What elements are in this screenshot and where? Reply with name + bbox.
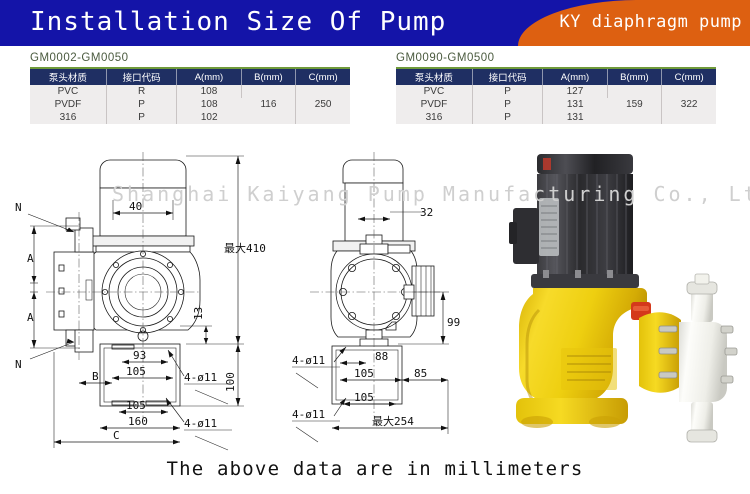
dim-100: 100 (224, 372, 237, 392)
dim-b: B (92, 370, 99, 383)
dim-88: 88 (375, 350, 388, 363)
cell-code: P (106, 111, 177, 124)
th-a: A(mm) (177, 68, 241, 85)
cell-a: 102 (177, 111, 241, 124)
cell-code: P (472, 98, 543, 111)
dim-max-410: 最大410 (224, 241, 266, 255)
label-hole-lower: 4-ø11 (184, 417, 217, 430)
cell-a: 108 (177, 98, 241, 111)
table-left-caption: GM0002-GM0050 (30, 52, 350, 64)
spec-table-left: GM0002-GM0050 泵头材质 接口代码 A(mm) B(mm) C(mm… (30, 52, 350, 124)
cell-material: PVDF (30, 98, 106, 111)
cell-material: 316 (396, 111, 472, 124)
table-header-row: 泵头材质 接口代码 A(mm) B(mm) C(mm) (30, 68, 350, 85)
dim-105-upper: 105 (126, 365, 146, 378)
cell-b: 116 (241, 85, 296, 124)
drawing-front-view: 40 N N A A 最大410 13 (15, 152, 266, 450)
cell-code: P (472, 85, 543, 98)
cell-material: PVC (30, 85, 106, 98)
diaphragm-head (679, 322, 727, 402)
label-hole-upper: 4-ø11 (184, 371, 217, 384)
dim-32: 32 (420, 206, 433, 219)
dim-13: 13 (192, 307, 205, 320)
dim-40: 40 (129, 200, 142, 213)
label-n-bottom: N (15, 358, 22, 371)
dim-c: C (113, 429, 120, 442)
th-a: A(mm) (543, 68, 607, 85)
cell-code: P (106, 98, 177, 111)
cell-a: 131 (543, 111, 607, 124)
cell-code: R (106, 85, 177, 98)
table-left: 泵头材质 接口代码 A(mm) B(mm) C(mm) PVC R 108 11… (30, 67, 350, 124)
footer-note: The above data are in millimeters (0, 458, 750, 480)
cell-c: 322 (662, 85, 716, 124)
cell-a: 108 (177, 85, 241, 98)
table-row: PVC R 108 116 250 (30, 85, 350, 98)
label-n-top: N (15, 201, 22, 214)
discharge-port (691, 290, 713, 322)
th-material: 泵头材质 (30, 68, 106, 85)
th-b: B(mm) (241, 68, 296, 85)
dim-160: 160 (128, 415, 148, 428)
dim-a-lower: A (27, 311, 34, 324)
dim-105-lower-side: 105 (354, 391, 374, 404)
product-photo (495, 150, 745, 450)
dim-85: 85 (414, 367, 427, 380)
dim-105-upper-side: 105 (354, 367, 374, 380)
label-hole-upper-side: 4-ø11 (292, 354, 325, 367)
th-code: 接口代码 (106, 68, 177, 85)
label-hole-lower-side: 4-ø11 (292, 408, 325, 421)
dim-a-upper: A (27, 252, 34, 265)
table-right-caption: GM0090-GM0500 (396, 52, 716, 64)
drawing-side-view: 32 99 88 105 85 105 最大254 (292, 152, 460, 442)
page-header: Installation Size Of Pump KY diaphragm p… (0, 0, 750, 46)
th-c: C(mm) (296, 68, 350, 85)
body-label (561, 348, 617, 390)
th-material: 泵头材质 (396, 68, 472, 85)
dim-93: 93 (133, 349, 146, 362)
suction-nut (687, 430, 717, 442)
dim-105-lower: 105 (126, 399, 146, 412)
table-right: 泵头材质 接口代码 A(mm) B(mm) C(mm) PVC P 127 15… (396, 67, 716, 124)
motor-cowl (537, 154, 633, 174)
suction-port (691, 402, 713, 432)
cell-c: 250 (296, 85, 350, 124)
page-title: Installation Size Of Pump (30, 7, 446, 37)
dim-99: 99 (447, 316, 460, 329)
cell-material: PVDF (396, 98, 472, 111)
th-c: C(mm) (662, 68, 716, 85)
cell-material: PVC (396, 85, 472, 98)
spec-table-right: GM0090-GM0500 泵头材质 接口代码 A(mm) B(mm) C(mm… (396, 52, 716, 124)
cell-a: 127 (543, 85, 607, 98)
th-code: 接口代码 (472, 68, 543, 85)
cell-a: 131 (543, 98, 607, 111)
cell-code: P (472, 111, 543, 124)
table-header-row: 泵头材质 接口代码 A(mm) B(mm) C(mm) (396, 68, 716, 85)
dim-max-254: 最大254 (372, 414, 414, 428)
th-b: B(mm) (607, 68, 662, 85)
cell-b: 159 (607, 85, 662, 124)
cell-material: 316 (30, 111, 106, 124)
table-row: PVC P 127 159 322 (396, 85, 716, 98)
header-badge-label: KY diaphragm pump (560, 12, 743, 32)
